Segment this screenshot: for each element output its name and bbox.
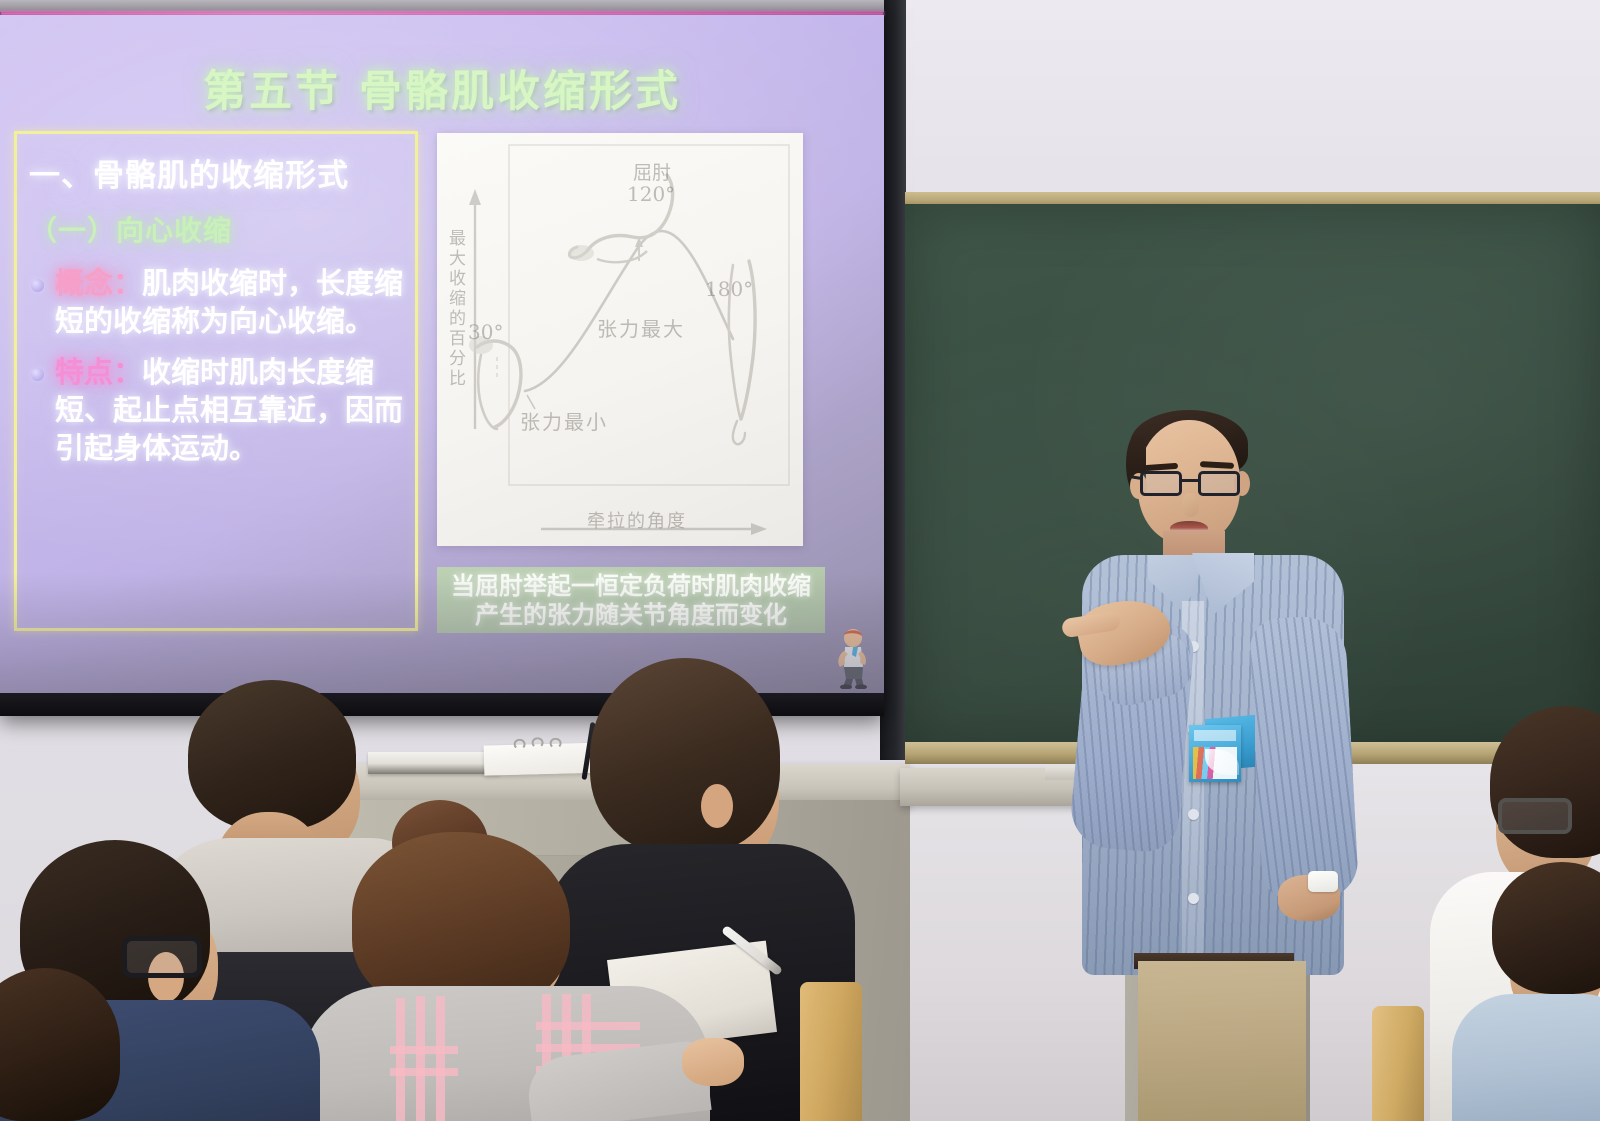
slide-caption-box: 当屈肘举起一恒定负荷时肌肉收缩产生的张力随关节角度而变化	[437, 567, 825, 633]
slide-bullet-feature: 特点：收缩时肌肉长度缩短、起止点相互靠近，因而引起身体运动。	[27, 354, 407, 467]
student-denim-shirt	[1452, 862, 1600, 1121]
projection-screen: 第五节 骨骼肌收缩形式 一、骨骼肌的收缩形式 （一）向心收缩 概念：肌肉收缩时，…	[0, 0, 884, 716]
chalk-box	[1189, 717, 1255, 782]
bullet-text-feature: 特点：收缩时肌肉长度缩短、起止点相互靠近，因而引起身体运动。	[55, 354, 407, 467]
diagram-label-max-tension: 张力最大	[597, 313, 685, 342]
diagram-y-axis-label: 最大收缩的百分比	[443, 229, 468, 389]
bullet-dot-icon	[31, 368, 44, 381]
chalk-box-label	[1194, 730, 1236, 741]
spiral-ring	[513, 739, 525, 750]
slide-heading-2: （一）向心收缩	[29, 209, 407, 249]
glasses-lens	[1198, 471, 1240, 496]
classroom-scene: 第五节 骨骼肌收缩形式 一、骨骼肌的收缩形式 （一）向心收缩 概念：肌肉收缩时，…	[0, 0, 1600, 1121]
bullet-keyword-concept: 概念：	[55, 266, 142, 300]
plaid-stripe	[396, 998, 405, 1121]
diagram-x-axis-label: 牵拉的角度	[587, 507, 687, 533]
student-shirt	[1452, 994, 1600, 1121]
plaid-stripe	[536, 1022, 640, 1030]
shirt-button	[1188, 893, 1199, 904]
student-partial-foreground	[0, 968, 120, 1121]
student-hair	[1490, 706, 1600, 858]
wooden-chair-back	[1372, 1006, 1424, 1121]
student-hair	[0, 968, 120, 1121]
tension-angle-diagram: 屈肘 120° 180° 张力最大 30° 张力最小 牵拉的角度 最大收缩的百分…	[437, 133, 803, 546]
slide-bullet-concept: 概念：肌肉收缩时，长度缩短的收缩称为向心收缩。	[27, 265, 407, 340]
bullet-text-concept: 概念：肌肉收缩时，长度缩短的收缩称为向心收缩。	[55, 265, 407, 340]
diagram-label-min-tension: 张力最小	[520, 406, 608, 435]
plaid-stripe	[436, 996, 445, 1121]
shirt-button	[1188, 809, 1199, 820]
glasses-lens	[1140, 471, 1182, 496]
student-hand	[682, 1038, 744, 1086]
slide-text-box: 一、骨骼肌的收缩形式 （一）向心收缩 概念：肌肉收缩时，长度缩短的收缩称为向心收…	[14, 131, 418, 631]
bullet-dot-icon	[31, 279, 44, 292]
chalk-box-front-panel	[1189, 725, 1241, 782]
slide-caption-text: 当屈肘举起一恒定负荷时肌肉收缩产生的张力随关节角度而变化	[447, 572, 815, 631]
diagram-label-flex: 屈肘	[633, 158, 671, 185]
eyeglasses-icon	[122, 936, 202, 978]
eyeglasses-icon	[1498, 798, 1572, 834]
diagram-label-120: 120°	[627, 182, 675, 206]
diagram-label-180: 180°	[705, 277, 753, 301]
glasses-bridge	[1182, 479, 1198, 482]
instructor-nose	[1182, 493, 1199, 517]
chalk-piece	[1308, 871, 1338, 892]
plaid-stripe	[390, 1068, 458, 1076]
spiral-ring	[531, 737, 543, 748]
bullet-keyword-feature: 特点：	[55, 355, 142, 389]
student-hair	[1492, 862, 1600, 994]
upper-wall-right	[880, 0, 1600, 205]
student-hair	[352, 832, 570, 1012]
plaid-stripe	[416, 996, 425, 1121]
wooden-chair-back	[800, 982, 862, 1121]
instructor-trousers	[1138, 961, 1306, 1121]
slide-heading-1: 一、骨骼肌的收缩形式	[29, 150, 407, 195]
slide-title: 第五节 骨骼肌收缩形式	[0, 57, 884, 119]
plaid-stripe	[390, 1046, 458, 1054]
presentation-slide: 第五节 骨骼肌收缩形式 一、骨骼肌的收缩形式 （一）向心收缩 概念：肌肉收缩时，…	[0, 15, 884, 693]
student-taking-notes	[300, 800, 710, 1121]
instructor-left-arm	[1249, 615, 1360, 902]
diagram-label-30: 30°	[468, 320, 503, 344]
